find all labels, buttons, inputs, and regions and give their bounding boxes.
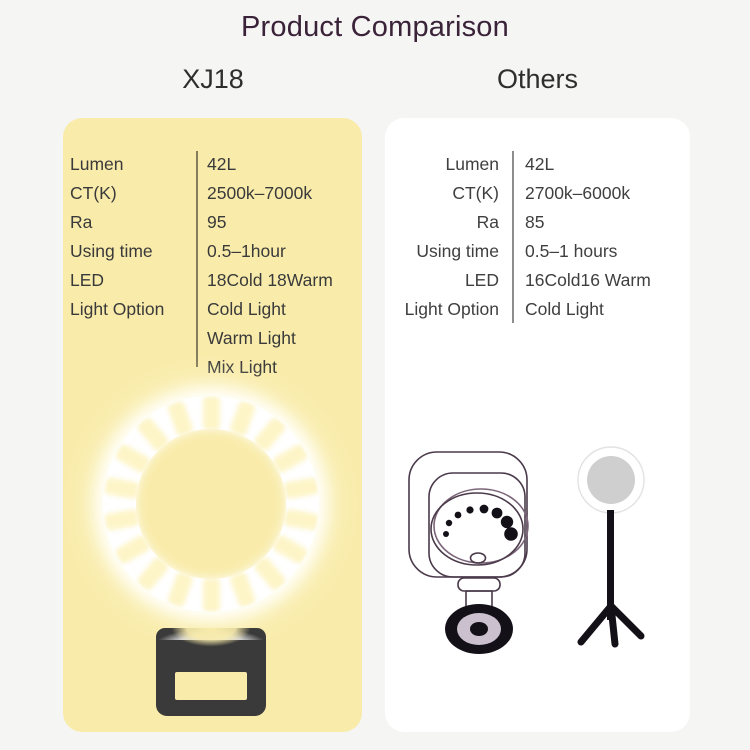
- spec-table-divider-left: [196, 151, 198, 367]
- ring-led-segment: [282, 477, 318, 500]
- spec-value-line: Warm Light: [207, 324, 350, 353]
- column-header-right: Others: [385, 64, 690, 95]
- spec-table-divider-right: [512, 151, 514, 323]
- spec-value: 16Cold16 Warm: [513, 266, 680, 295]
- table-row: LED 16Cold16 Warm: [395, 266, 680, 295]
- table-row: LED 18Cold 18Warm: [70, 266, 350, 295]
- others-led-dots: [443, 505, 518, 541]
- spec-value: 95: [196, 208, 350, 237]
- spec-value-line: Mix Light: [207, 353, 350, 382]
- spec-value: 2700k–6000k: [513, 179, 680, 208]
- column-header-left: XJ18: [63, 64, 363, 95]
- spec-label: LED: [70, 266, 196, 295]
- spec-label: LED: [395, 266, 513, 295]
- spec-value: Cold Light: [513, 295, 680, 324]
- table-row: Using time 0.5–1hour: [70, 237, 350, 266]
- spec-value: 2500k–7000k: [196, 179, 350, 208]
- spec-value: Cold Light Warm Light Mix Light: [196, 295, 350, 382]
- table-row: Light Option Cold Light: [395, 295, 680, 324]
- spec-label: Light Option: [395, 295, 513, 324]
- spec-label: Light Option: [70, 295, 196, 382]
- product-comparison-page: Product Comparison XJ18 Others Lumen 42L…: [0, 0, 750, 750]
- spec-label: Lumen: [70, 150, 196, 179]
- ring-inner-hole: [136, 429, 286, 579]
- spec-table-others: Lumen 42L CT(K) 2700k–6000k Ra 85 Using …: [395, 150, 680, 324]
- others-tripod-light-icon: [578, 447, 644, 644]
- spec-label: Ra: [395, 208, 513, 237]
- ring-led-segment: [166, 571, 194, 609]
- spec-label: Ra: [70, 208, 196, 237]
- table-row: Ra 85: [395, 208, 680, 237]
- spec-label: Using time: [395, 237, 513, 266]
- others-illustrations-svg: [385, 430, 690, 660]
- spec-value: 0.5–1 hours: [513, 237, 680, 266]
- ring-led-segment: [203, 396, 220, 430]
- ring-led-segment: [203, 578, 220, 612]
- ring-led-segment: [228, 571, 256, 609]
- table-row: Ra 95: [70, 208, 350, 237]
- xj18-ring-light-image: [103, 396, 319, 646]
- ring-led-segment: [282, 508, 318, 531]
- spec-label: Using time: [70, 237, 196, 266]
- table-row: Light Option Cold Light Warm Light Mix L…: [70, 295, 350, 382]
- table-row: CT(K) 2500k–7000k: [70, 179, 350, 208]
- spec-label: Lumen: [395, 150, 513, 179]
- phone-clip: [156, 628, 266, 716]
- clip-notch: [156, 628, 266, 648]
- table-row: Lumen 42L: [395, 150, 680, 179]
- spec-value: 85: [513, 208, 680, 237]
- spec-value: 42L: [513, 150, 680, 179]
- others-product-images: [385, 430, 690, 660]
- spec-label: CT(K): [395, 179, 513, 208]
- spec-value: 18Cold 18Warm: [196, 266, 350, 295]
- others-clip-wheel: [445, 604, 513, 654]
- spec-label: CT(K): [70, 179, 196, 208]
- table-row: Lumen 42L: [70, 150, 350, 179]
- spec-value: 42L: [196, 150, 350, 179]
- page-title: Product Comparison: [0, 11, 750, 44]
- clip-slot: [175, 672, 247, 700]
- spec-value-line: Cold Light: [207, 295, 350, 324]
- spec-table-xj18: Lumen 42L CT(K) 2500k–7000k Ra 95 Using …: [70, 150, 350, 382]
- ring-led-segment: [103, 477, 139, 500]
- ring-led-segment: [103, 508, 139, 531]
- table-row: CT(K) 2700k–6000k: [395, 179, 680, 208]
- table-row: Using time 0.5–1 hours: [395, 237, 680, 266]
- spec-value: 0.5–1hour: [196, 237, 350, 266]
